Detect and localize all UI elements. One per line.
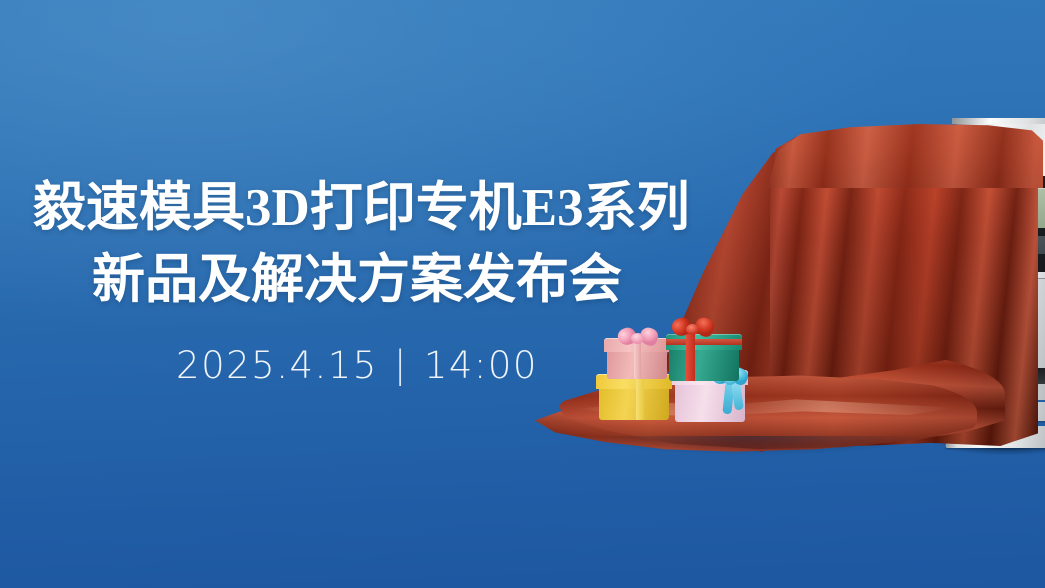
cloth-top-cap: [767, 124, 1043, 188]
poster-datetime-separator: |: [394, 343, 408, 386]
poster-text-block: 毅速模具3D打印专机E3系列 新品及解决方案发布会 2025.4.15|14:0…: [0, 0, 700, 588]
event-poster: 毅速模具3D打印专机E3系列 新品及解决方案发布会 2025.4.15|14:0…: [0, 0, 1045, 588]
poster-datetime: 2025.4.15|14:00: [33, 344, 681, 387]
blue-bow-tail-right: [731, 382, 744, 411]
poster-date: 2025.4.15: [176, 344, 378, 387]
poster-time: 14:00: [424, 344, 538, 387]
poster-title-line-1: 毅速模具3D打印专机E3系列: [33, 182, 681, 235]
poster-title-line-2: 新品及解决方案发布会: [33, 254, 681, 307]
